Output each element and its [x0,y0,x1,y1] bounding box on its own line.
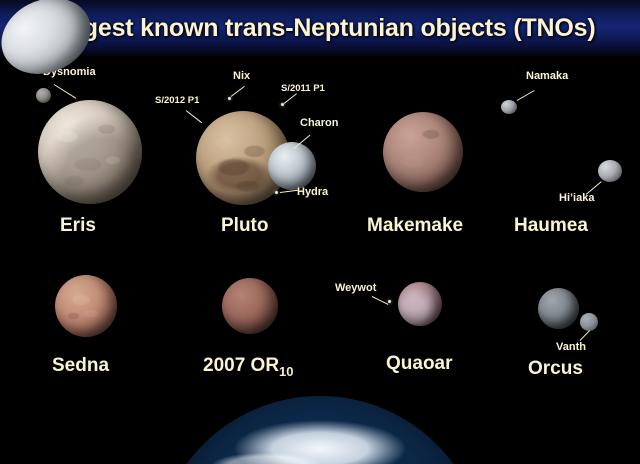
object-label-2007-or10: 2007 OR10 [203,355,294,379]
earth-scale-reference [155,396,485,464]
eris-surface-texture [38,100,142,204]
moon-hydra [275,191,278,194]
page-title: Largest known trans-Neptunian objects (T… [0,0,640,56]
tno-size-comparison-figure: Largest known trans-Neptunian objects (T… [0,0,640,464]
object-label-eris: Eris [60,215,96,237]
planet-eris [38,100,142,204]
earth-cloud-layer [155,396,485,464]
object-label-orcus: Orcus [528,358,583,380]
planet-makemake [383,112,463,192]
planet-quaoar [398,282,442,326]
moon-vanth [580,313,598,331]
earth-right-vignette [465,390,640,464]
moon-label-hydra: Hydra [297,186,328,198]
earth-left-vignette [0,390,175,464]
moon-label-vanth: Vanth [556,341,586,353]
moon-label-weywot: Weywot [335,282,376,294]
moon-dysnomia [36,88,51,103]
planet-2007-or10 [222,278,278,334]
or10-main-text: 2007 OR [203,355,279,376]
object-label-sedna: Sedna [52,355,109,377]
object-label-makemake: Makemake [367,215,463,237]
sedna-surface-texture [55,275,117,337]
hydra-leader-line [280,190,298,193]
object-label-haumea: Haumea [514,215,588,237]
vanth-leader-line [580,330,590,341]
title-banner: Largest known trans-Neptunian objects (T… [0,0,640,56]
nix-leader-line [231,86,245,97]
dysnomia-leader-line [54,84,77,99]
namaka-leader-line [517,90,535,101]
moon-namaka [501,100,517,114]
moon-nix [228,97,231,100]
moon-label-nix: Nix [233,70,250,82]
moon-label-namaka: Namaka [526,70,568,82]
moon-charon [268,142,316,190]
moon-hiiaka [598,160,622,182]
moon-label-charon: Charon [300,117,339,129]
s2012p1-leader-line [186,110,202,123]
s2011p1-leader-line [284,93,297,104]
or10-subscript: 10 [279,364,293,379]
moon-label-hiiaka: Hi’iaka [559,192,594,204]
makemake-surface-texture [383,112,463,192]
planet-orcus [538,288,579,329]
weywot-leader-line [372,296,389,305]
moon-label-s2011p1: S/2011 P1 [281,83,325,94]
object-label-quaoar: Quaoar [386,353,453,375]
moon-label-s2012p1: S/2012 P1 [155,95,199,106]
object-label-pluto: Pluto [221,215,269,237]
moon-weywot [388,300,391,303]
planet-sedna [55,275,117,337]
